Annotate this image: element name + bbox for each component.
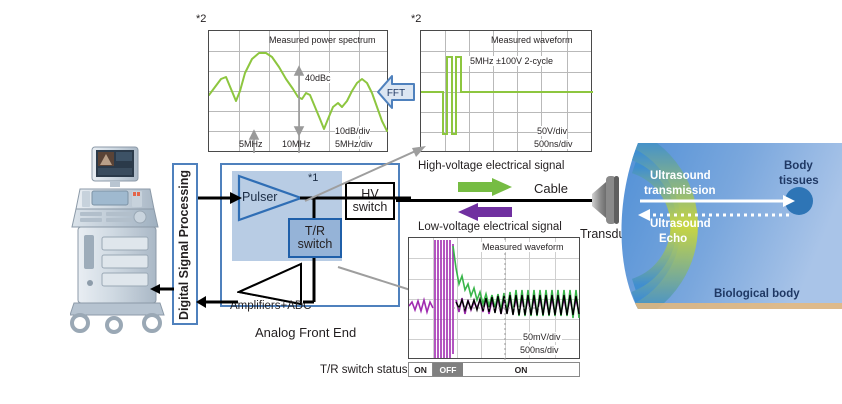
body-tissues-label-line1: Body xyxy=(784,160,813,172)
tr-switch-status-label: T/R switch status xyxy=(320,364,408,376)
tr-switch-status-bar: ON OFF ON xyxy=(408,362,580,377)
fft-arrow: FFT xyxy=(376,66,416,118)
tx-waveform-y-scale: 50V/div xyxy=(537,126,567,136)
dsp-to-system-arrow xyxy=(150,282,176,296)
high-voltage-signal-label: High-voltage electrical signal xyxy=(418,160,564,172)
tx-waveform-x-scale: 500ns/div xyxy=(534,139,573,149)
callout-connectors xyxy=(260,145,430,310)
receive-direction-arrow xyxy=(458,203,514,221)
ultrasound-echo-label-line1: Ultrasound xyxy=(650,218,711,230)
ultrasound-transmission-label-line1: Ultrasound xyxy=(650,170,711,182)
transmit-measured-waveform-panel: Measured waveform 5MHz ±100V 2-cycle 50V… xyxy=(420,30,592,152)
ultrasound-cart-system xyxy=(70,145,178,335)
fft-label: FFT xyxy=(387,88,405,99)
rx-waveform-y-scale: 50mV/div xyxy=(522,332,562,342)
rx-waveform-panel-title: Measured waveform xyxy=(481,242,565,252)
tr-status-segment-on-1: ON xyxy=(409,363,433,376)
ultrasound-transmission-label-line2: transmission xyxy=(644,185,716,197)
ultrasound-echo-label-line2: Echo xyxy=(659,233,687,245)
low-voltage-signal-label: Low-voltage electrical signal xyxy=(418,221,562,233)
biological-body-label: Biological body xyxy=(714,288,800,300)
rx-waveform-x-scale: 500ns/div xyxy=(519,345,560,355)
cable-line xyxy=(396,199,600,202)
tx-waveform-panel-title: Measured waveform xyxy=(491,35,573,45)
spectrum-y-scale: 10dB/div xyxy=(335,126,370,136)
receive-measured-waveform-panel: Measured waveform 50mV/div 500ns/div xyxy=(408,237,580,359)
body-tissues-label-line2: tissues xyxy=(779,175,819,187)
transmit-direction-arrow xyxy=(458,178,514,196)
digital-signal-processing-label: Digital Signal Processing xyxy=(177,170,191,320)
tx-waveform-note-marker: *2 xyxy=(411,13,421,25)
measured-power-spectrum-panel: Measured power spectrum 40dBc 5MHz 10MHz… xyxy=(208,30,388,152)
tr-status-segment-on-2: ON xyxy=(463,363,579,376)
tx-waveform-params: 5MHz ±100V 2-cycle xyxy=(469,56,554,66)
spectrum-annotation-40dbc: 40dBc xyxy=(304,73,332,83)
analog-front-end-caption: Analog Front End xyxy=(255,325,356,340)
tx-waveform-trace xyxy=(421,31,593,153)
spectrum-note-marker: *2 xyxy=(196,13,206,25)
spectrum-panel-title: Measured power spectrum xyxy=(269,35,376,45)
tr-status-segment-off: OFF xyxy=(433,363,463,376)
cable-label: Cable xyxy=(534,181,568,196)
spectrum-tick-5mhz: 5MHz xyxy=(239,139,263,149)
